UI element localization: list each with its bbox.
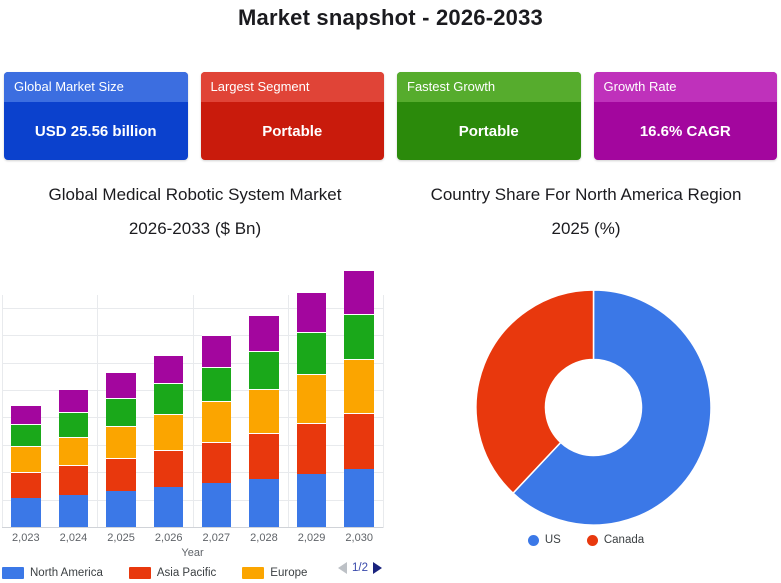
bar-segment[interactable] [11, 446, 41, 472]
bar-group[interactable] [106, 372, 136, 527]
stat-card-fastest-growth[interactable]: Fastest Growth Portable [397, 72, 581, 160]
bar-segment[interactable] [202, 483, 232, 527]
legend-label: US [545, 534, 561, 546]
bar-segment[interactable] [297, 292, 327, 332]
bar-segment[interactable] [154, 355, 184, 384]
bar-segment[interactable] [59, 389, 89, 411]
bar-group[interactable] [297, 292, 327, 527]
x-axis-tick-label: 2,026 [145, 532, 193, 544]
donut-chart-plot-area [476, 290, 711, 525]
x-axis-tick-label: 2,023 [2, 532, 50, 544]
donut-chart-legend: USCanada [391, 534, 781, 546]
stat-card-value: USD 25.56 billion [4, 102, 188, 160]
bar-segment[interactable] [59, 437, 89, 466]
bar-segment[interactable] [59, 495, 89, 527]
bar-group[interactable] [11, 405, 41, 527]
bar-group[interactable] [154, 355, 184, 527]
bar-segment[interactable] [202, 335, 232, 367]
legend-swatch [242, 567, 264, 579]
bar-segment[interactable] [249, 315, 279, 351]
bar-segment[interactable] [154, 487, 184, 527]
gridline-vertical [193, 295, 194, 528]
bar-segment[interactable] [297, 332, 327, 374]
gridline-vertical [97, 295, 98, 528]
pagination-label: 1/2 [352, 562, 368, 574]
bar-segment[interactable] [154, 414, 184, 450]
bar-group[interactable] [59, 389, 89, 527]
stat-cards-row: Global Market Size USD 25.56 billion Lar… [4, 72, 777, 160]
legend-entry[interactable]: Europe [242, 567, 307, 579]
bar-segment[interactable] [106, 372, 136, 398]
bar-segment[interactable] [11, 424, 41, 446]
bar-segment[interactable] [106, 426, 136, 459]
x-axis-tick-label: 2,027 [193, 532, 241, 544]
bar-group[interactable] [249, 315, 279, 527]
gridline-vertical [288, 295, 289, 528]
donut-chart-title-line2: 2025 (%) [391, 212, 781, 246]
stat-card-value: 16.6% CAGR [594, 102, 778, 160]
legend-swatch [129, 567, 151, 579]
x-axis-tick-label: 2,028 [240, 532, 288, 544]
gridline-vertical [383, 295, 384, 528]
bar-segment[interactable] [344, 314, 374, 359]
legend-swatch [2, 567, 24, 579]
stat-card-largest-segment[interactable]: Largest Segment Portable [201, 72, 385, 160]
bar-segment[interactable] [106, 491, 136, 527]
stat-card-label: Growth Rate [594, 72, 778, 102]
legend-entry[interactable]: US [528, 534, 561, 546]
bar-chart-x-axis-label: Year [0, 547, 385, 559]
gridline-vertical [2, 295, 3, 528]
legend-entry[interactable]: North America [2, 567, 103, 579]
bar-segment[interactable] [297, 423, 327, 474]
x-axis-tick-label: 2,030 [335, 532, 383, 544]
triangle-right-icon[interactable] [373, 562, 382, 574]
bar-chart-title-line1: Global Medical Robotic System Market [0, 178, 390, 212]
bar-segment[interactable] [249, 389, 279, 433]
stat-card-value: Portable [201, 102, 385, 160]
stat-card-global-market-size[interactable]: Global Market Size USD 25.56 billion [4, 72, 188, 160]
bar-segment[interactable] [297, 474, 327, 527]
bar-segment[interactable] [344, 359, 374, 413]
legend-entry[interactable]: Canada [587, 534, 644, 546]
bar-chart-pagination[interactable]: 1/2 [338, 562, 382, 574]
bar-group[interactable] [344, 270, 374, 527]
bar-segment[interactable] [106, 458, 136, 491]
bar-segment[interactable] [344, 270, 374, 314]
bar-segment[interactable] [106, 398, 136, 425]
bar-segment[interactable] [297, 374, 327, 423]
donut-chart[interactable]: USCanada [391, 262, 781, 583]
bar-segment[interactable] [154, 383, 184, 414]
donut-chart-title-line1: Country Share For North America Region [391, 178, 781, 212]
bar-segment[interactable] [11, 472, 41, 498]
bar-chart-title: Global Medical Robotic System Market 202… [0, 178, 390, 246]
stat-card-label: Global Market Size [4, 72, 188, 102]
x-axis-line [2, 527, 383, 528]
x-axis-tick-label: 2,025 [97, 532, 145, 544]
x-axis-tick-label: 2,024 [50, 532, 98, 544]
bar-group[interactable] [202, 335, 232, 527]
legend-dot [587, 535, 598, 546]
bar-segment[interactable] [202, 401, 232, 442]
legend-label: Asia Pacific [157, 567, 216, 579]
bar-chart-plot-area [2, 295, 383, 528]
legend-entry[interactable]: Asia Pacific [129, 567, 216, 579]
triangle-left-icon[interactable] [338, 562, 347, 574]
bar-segment[interactable] [249, 433, 279, 479]
bar-chart-title-line2: 2026-2033 ($ Bn) [0, 212, 390, 246]
stat-card-value: Portable [397, 102, 581, 160]
stat-card-label: Largest Segment [201, 72, 385, 102]
page-title: Market snapshot - 2026-2033 [0, 5, 781, 31]
bar-segment[interactable] [11, 405, 41, 424]
bar-segment[interactable] [154, 450, 184, 487]
bar-segment[interactable] [59, 412, 89, 437]
bar-segment[interactable] [202, 367, 232, 401]
bar-segment[interactable] [249, 351, 279, 389]
legend-label: Europe [270, 567, 307, 579]
legend-dot [528, 535, 539, 546]
bar-segment[interactable] [11, 498, 41, 527]
stat-card-label: Fastest Growth [397, 72, 581, 102]
stat-card-growth-rate[interactable]: Growth Rate 16.6% CAGR [594, 72, 778, 160]
bar-segment[interactable] [344, 413, 374, 469]
bar-segment[interactable] [249, 479, 279, 527]
donut-svg [476, 290, 711, 525]
bar-chart-legend: North AmericaAsia PacificEurope [2, 564, 332, 582]
legend-label: Canada [604, 534, 644, 546]
stacked-bar-chart[interactable]: Year North AmericaAsia PacificEurope 1/2… [0, 262, 390, 583]
bar-segment[interactable] [202, 442, 232, 483]
donut-chart-title: Country Share For North America Region 2… [391, 178, 781, 246]
bar-segment[interactable] [344, 469, 374, 527]
legend-label: North America [30, 567, 103, 579]
x-axis-tick-label: 2,029 [288, 532, 336, 544]
bar-segment[interactable] [59, 465, 89, 495]
